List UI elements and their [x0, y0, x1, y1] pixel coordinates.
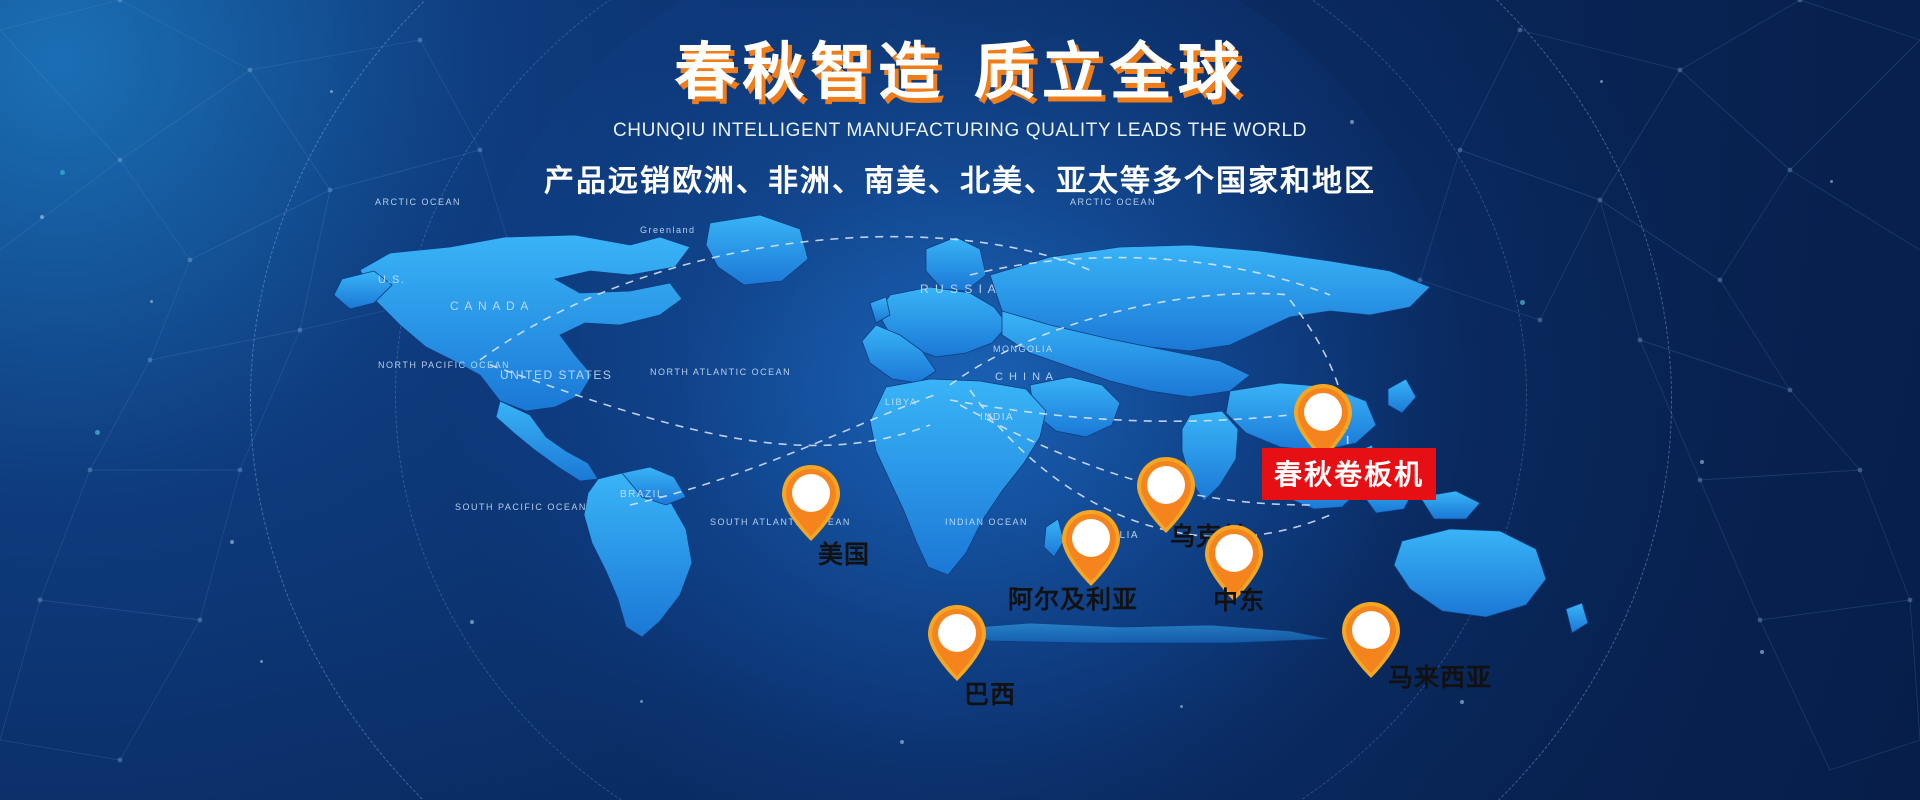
map-pin-2[interactable]: 阿尔及利亚	[1060, 508, 1122, 588]
map-region-label: INDIAN OCEAN	[945, 517, 1028, 527]
map-pin-icon[interactable]	[1060, 508, 1122, 588]
map-pin-icon[interactable]	[926, 603, 988, 683]
map-region-label: NORTH ATLANTIC OCEAN	[650, 367, 791, 377]
map-pin-label: 中东	[1213, 581, 1265, 617]
map-pin-label: 美国	[818, 535, 870, 571]
map-pin-1[interactable]: 巴西	[926, 603, 988, 683]
map-region-label: SOUTH PACIFIC OCEAN	[455, 502, 587, 512]
map-region-label: BRAZIL	[620, 489, 664, 500]
world-map: ARCTIC OCEANARCTIC OCEANU.S.C A N A D AG…	[330, 175, 1620, 645]
map-region-label: NORTH PACIFIC OCEAN	[378, 360, 510, 370]
map-region-label: R U S S I A	[920, 282, 997, 296]
map-pin-icon	[926, 603, 988, 683]
map-region-label: LIBYA	[885, 397, 917, 407]
map-pin-icon	[780, 463, 842, 543]
map-region-label: C A N A D A	[450, 299, 530, 313]
map-pin-icon	[1060, 508, 1122, 588]
status-badge[interactable]: 春秋卷板机	[1262, 448, 1436, 500]
map-region-label: MONGOLIA	[993, 344, 1054, 354]
map-region-label: Greenland	[640, 225, 696, 235]
page-title: 春秋智造 质立全球	[0, 38, 1920, 106]
map-pin-icon[interactable]	[780, 463, 842, 543]
hero-banner: 春秋智造 质立全球 CHUNQIU INTELLIGENT MANUFACTUR…	[0, 0, 1920, 800]
map-region-label: ARCTIC OCEAN	[375, 197, 461, 207]
page-subtitle: CHUNQIU INTELLIGENT MANUFACTURING QUALIT…	[0, 120, 1920, 142]
map-region-label: INDIA	[980, 412, 1014, 423]
map-region-label: C H I N A	[995, 371, 1054, 383]
map-pin-0[interactable]: 美国	[780, 463, 842, 543]
map-pin-3[interactable]: 乌克兰	[1135, 455, 1197, 535]
map-region-label: UNITED STATES	[500, 368, 612, 382]
map-region-label: ARCTIC OCEAN	[1070, 197, 1156, 207]
map-reference-labels: ARCTIC OCEANARCTIC OCEANU.S.C A N A D AG…	[330, 175, 1620, 645]
map-pin-label: 阿尔及利亚	[1008, 580, 1138, 616]
map-region-label: U.S.	[378, 274, 405, 286]
map-pin-6[interactable]: 马来西亚	[1340, 600, 1402, 680]
map-pin-4[interactable]: 中东	[1203, 523, 1265, 603]
map-pin-label: 马来西亚	[1388, 658, 1492, 694]
map-pin-label: 巴西	[964, 675, 1016, 711]
